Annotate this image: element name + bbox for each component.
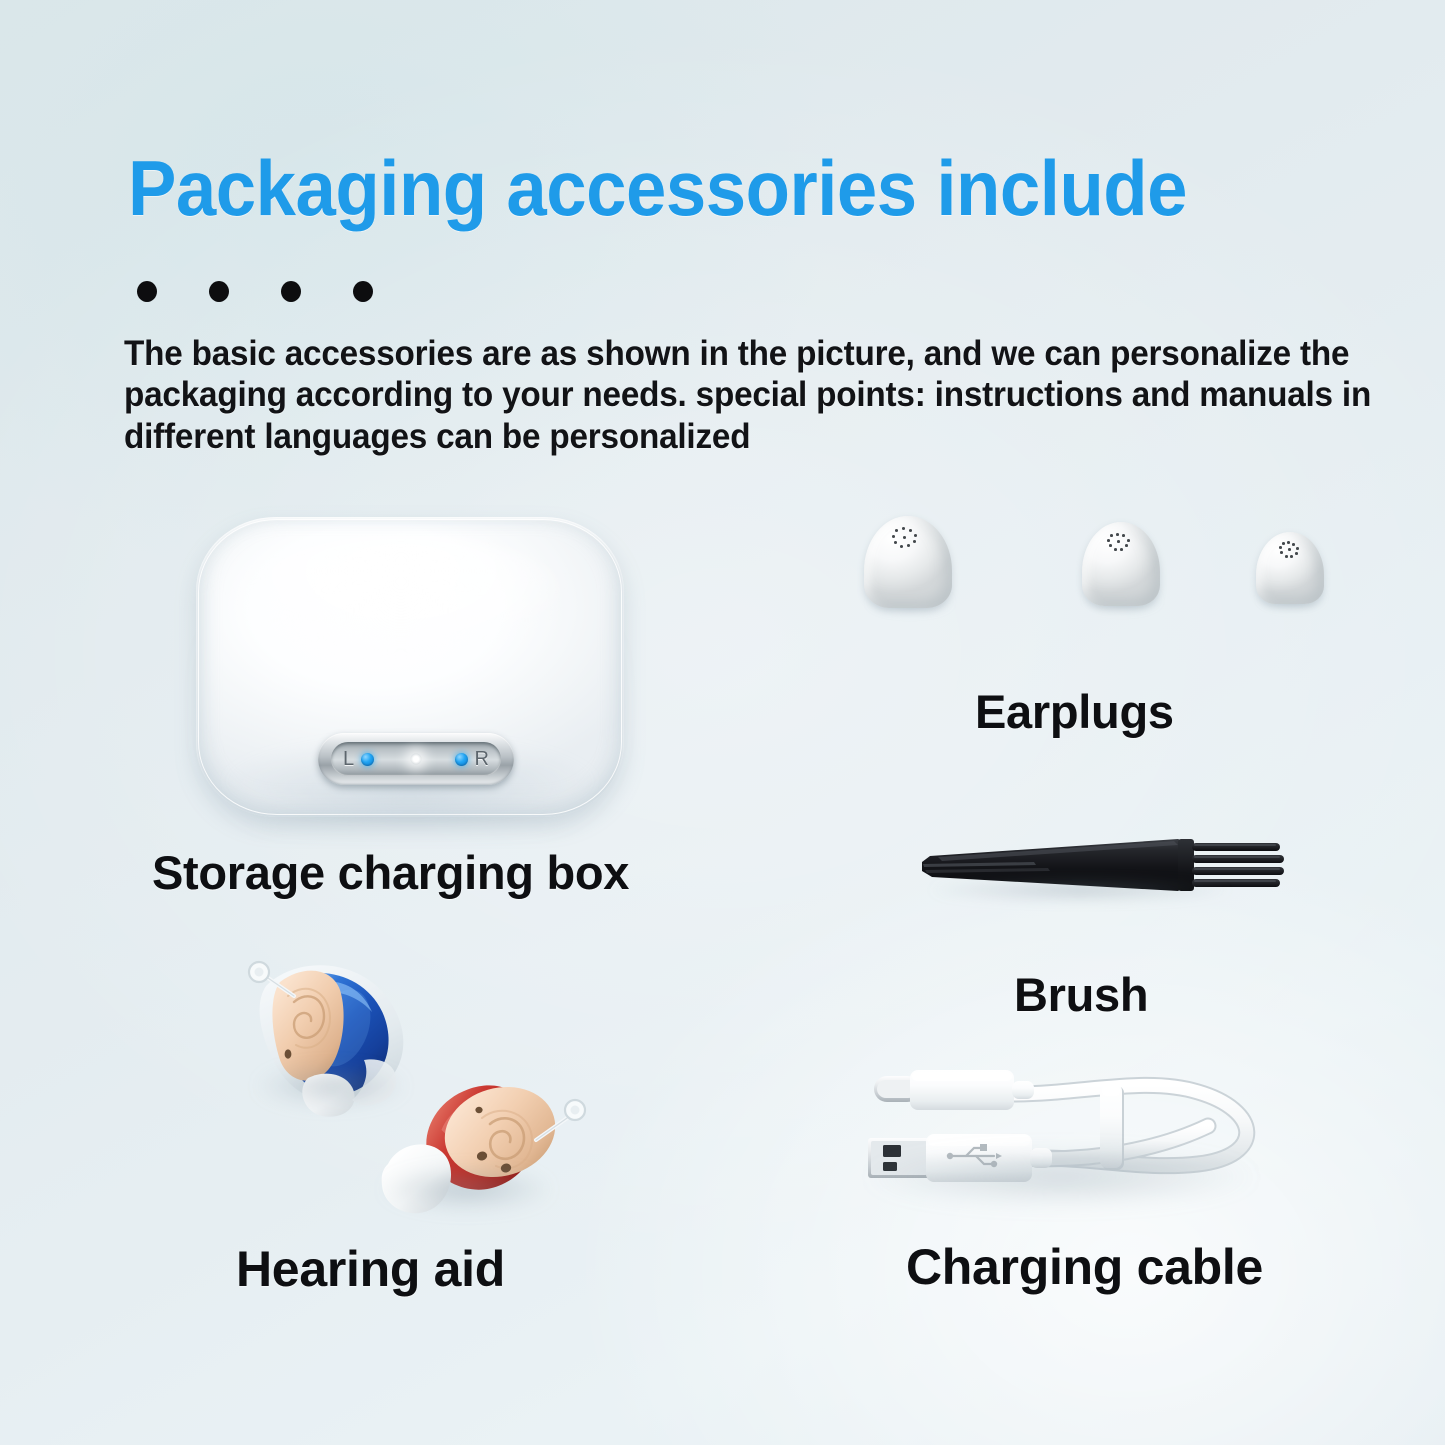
right-channel-indicator: R [455,749,489,769]
hearing-aid-unit-right [364,1058,594,1238]
hearing-aid-right-svg [364,1058,594,1238]
center-led-icon [411,754,422,765]
box-highlight [236,535,566,655]
hearing-aid-image [236,950,636,1230]
storage-charging-box-image: L R [196,517,624,820]
bullet-dot [281,281,301,302]
earplug-mesh-icon [1104,531,1133,554]
led-indicator-inset: L R [331,742,501,776]
earplug-mesh-icon [888,525,921,551]
storage-charging-box-label: Storage charging box [152,845,629,900]
charging-cable-image [846,1052,1296,1232]
charging-cable-label: Charging cable [906,1238,1263,1296]
bullet-dot [209,281,229,302]
brush-label: Brush [1014,967,1148,1022]
bullet-dot [353,281,373,302]
left-channel-indicator: L [343,749,374,769]
bullet-dots-row [137,281,373,302]
earplug-mesh-icon [1276,540,1302,561]
hearing-aid-label: Hearing aid [236,1240,505,1298]
brush-shadow [930,879,1230,901]
brush-image [916,829,1288,911]
description-text: The basic accessories are as shown in th… [124,333,1373,457]
left-led-icon [361,753,374,766]
led-indicator-panel: L R [318,733,514,785]
hearing-aid-shadow [382,1168,552,1210]
bullet-dot [137,281,157,302]
left-channel-letter: L [343,749,354,769]
earplug-medium [1082,522,1160,606]
right-led-icon [455,753,468,766]
cable-shadow [866,1148,1256,1206]
earplug-large [864,516,952,608]
earplugs-label: Earplugs [975,684,1174,739]
page-title: Packaging accessories include [128,143,1187,234]
earplug-small [1256,532,1324,604]
right-channel-letter: R [475,749,489,769]
